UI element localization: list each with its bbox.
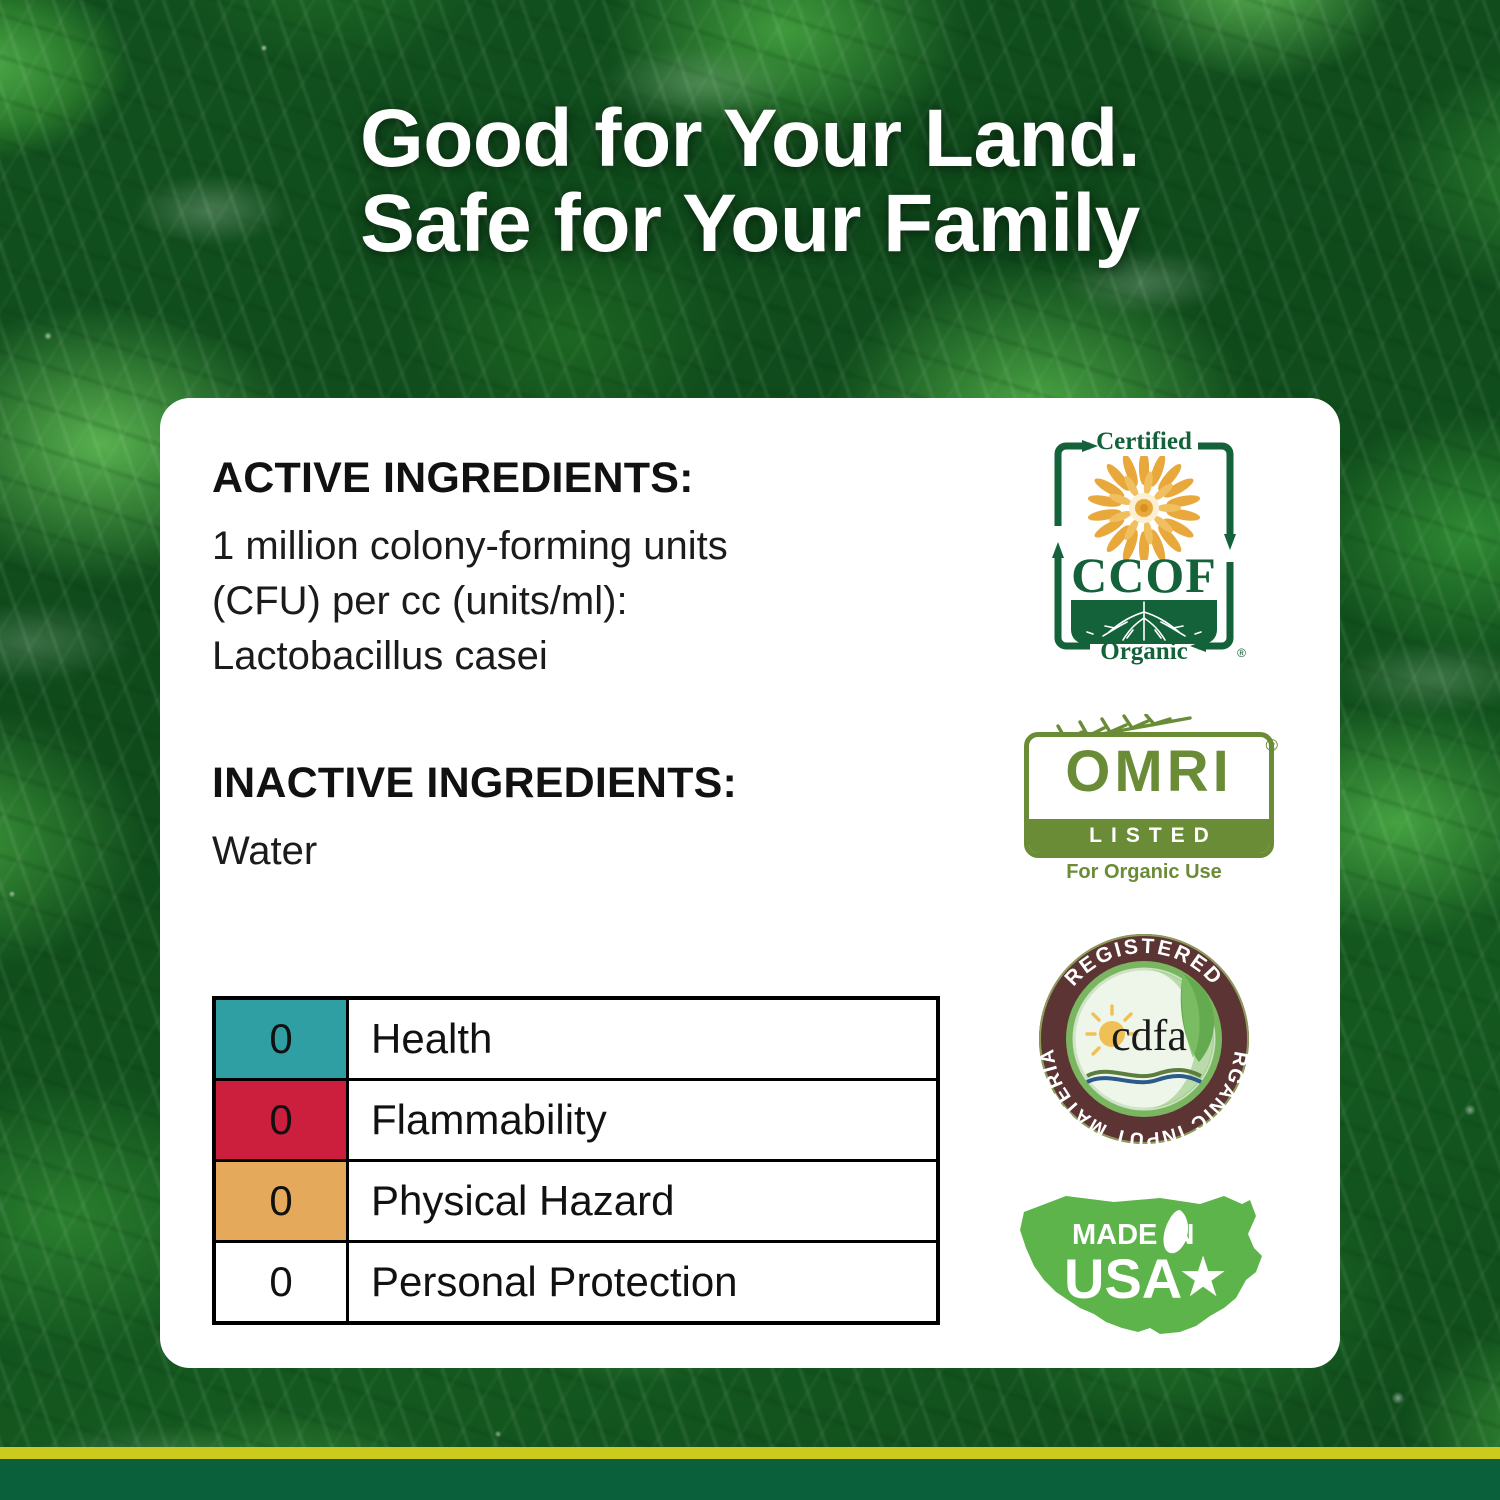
ingredients-text-column: ACTIVE INGREDIENTS: 1 million colony-for… [212, 454, 1012, 879]
cdfa-wordmark-text: cdfa [1111, 1011, 1187, 1060]
infographic-canvas: Good for Your Land. Safe for Your Family… [0, 0, 1500, 1500]
omri-badge-box: OMRI LISTED [1024, 732, 1274, 858]
omri-caption: For Organic Use [1006, 861, 1282, 884]
active-line-2: (CFU) per cc (units/ml): [212, 574, 1012, 629]
footer-stripe-yellow [0, 1447, 1500, 1459]
ccof-registered-mark: ® [1237, 646, 1246, 660]
ccof-bottom-text: Organic [1046, 638, 1242, 666]
hmis-hazard-table: 0Health0Flammability0Physical Hazard0Per… [212, 996, 940, 1325]
active-line-3: Lactobacillus casei [212, 629, 1012, 684]
section-spacer [212, 685, 1012, 759]
footer-stripe-green [0, 1459, 1500, 1500]
cdfa-seal-icon: cdfa REGISTERED ORGANIC INPUT MATERIAL [1033, 930, 1255, 1148]
omri-wordmark: OMRI [1029, 743, 1269, 801]
hmis-row: 0Flammability [216, 1081, 936, 1162]
inactive-ingredients-heading: INACTIVE INGREDIENTS: [212, 759, 1012, 808]
usa-star-icon: ★ [1178, 1245, 1228, 1308]
active-line-1: 1 million colony-forming units [212, 519, 1012, 574]
omri-registered-mark: ® [1265, 736, 1278, 756]
cdfa-organic-input-material-seal: cdfa REGISTERED ORGANIC INPUT MATERIAL [1033, 930, 1255, 1148]
ccof-top-text: Certified [1046, 428, 1242, 456]
ccof-certified-organic-seal: Certified [1046, 430, 1242, 662]
headline: Good for Your Land. Safe for Your Family [0, 96, 1500, 267]
hmis-category-label: Flammability [349, 1081, 936, 1159]
headline-line-1: Good for Your Land. [360, 93, 1140, 184]
omri-listed-seal: OMRI LISTED ® For Organic Use [1006, 716, 1282, 886]
certification-seals-column: Certified [994, 420, 1294, 1340]
card-content: ACTIVE INGREDIENTS: 1 million colony-for… [160, 398, 1340, 1368]
active-ingredients-heading: ACTIVE INGREDIENTS: [212, 454, 1012, 503]
usa-text: USA [1064, 1247, 1182, 1310]
sunflower-icon [1079, 456, 1209, 560]
hmis-category-label: Personal Protection [349, 1243, 936, 1321]
inactive-line-1: Water [212, 824, 1012, 879]
hmis-row: 0Personal Protection [216, 1243, 936, 1321]
active-ingredients-body: 1 million colony-forming units (CFU) per… [212, 519, 1012, 685]
hmis-category-label: Physical Hazard [349, 1162, 936, 1240]
hmis-rating-value: 0 [216, 1081, 349, 1159]
hmis-row: 0Health [216, 1000, 936, 1081]
omri-listed-banner: LISTED [1029, 819, 1269, 853]
hmis-rating-value: 0 [216, 1000, 349, 1078]
ingredients-card: ACTIVE INGREDIENTS: 1 million colony-for… [160, 398, 1340, 1368]
made-in-usa-badge: MADE IN USA ★ [1010, 1182, 1278, 1340]
hmis-row: 0Physical Hazard [216, 1162, 936, 1243]
inactive-ingredients-body: Water [212, 824, 1012, 879]
usa-map-icon: MADE IN USA ★ [1010, 1182, 1278, 1340]
headline-line-2: Safe for Your Family [120, 181, 1380, 266]
hmis-rating-value: 0 [216, 1243, 349, 1321]
ccof-wordmark: CCOF [1046, 546, 1242, 604]
hmis-category-label: Health [349, 1000, 936, 1078]
hmis-rating-value: 0 [216, 1162, 349, 1240]
